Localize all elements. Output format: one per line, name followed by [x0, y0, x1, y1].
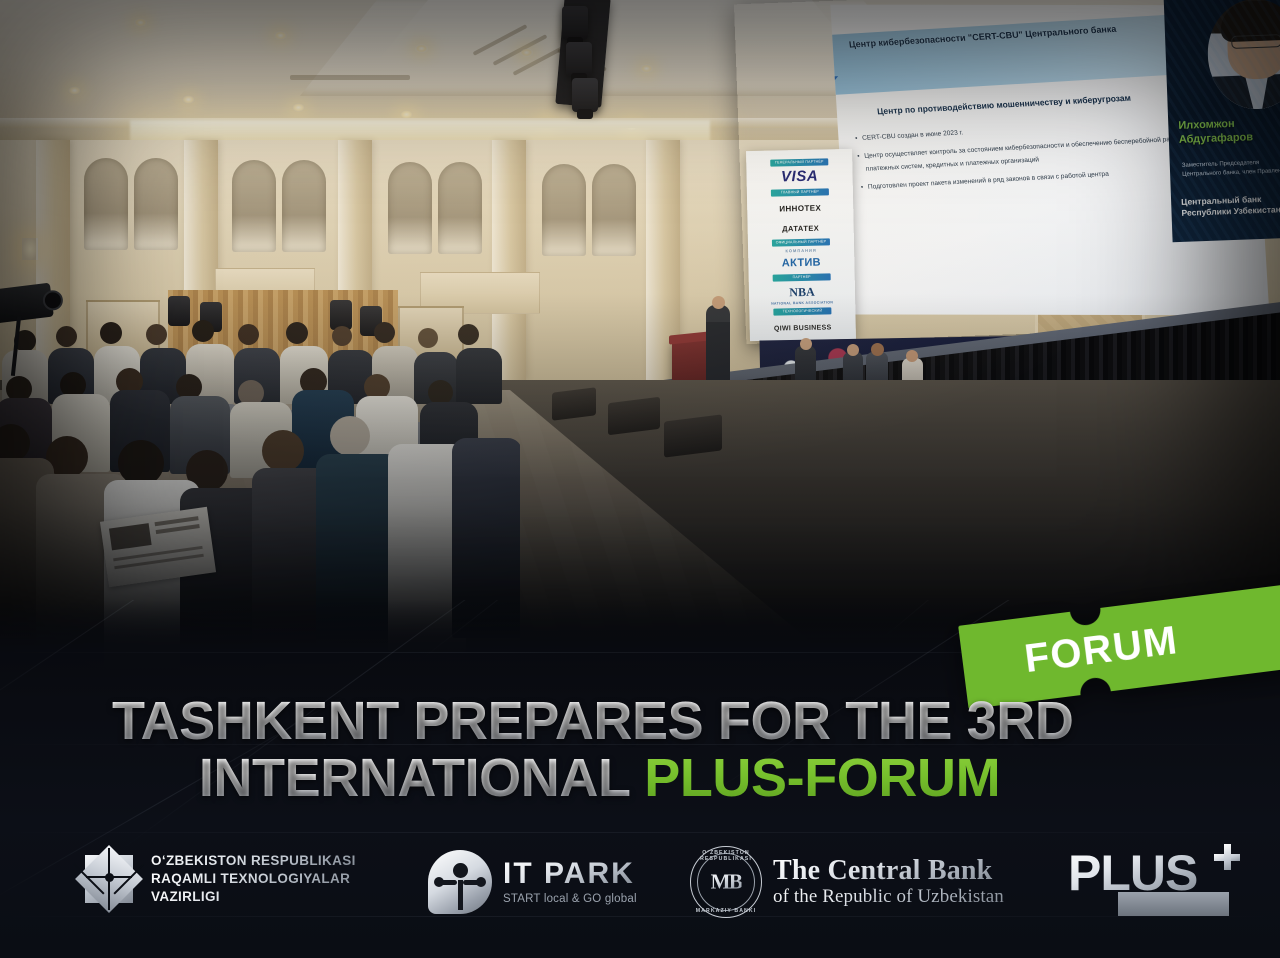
speaker-organization: Центральный банк Республики Узбекистан: [1181, 192, 1280, 218]
wall-arch-window: [134, 158, 178, 250]
sponsor-tier-caption: ОФИЦИАЛЬНЫЙ ПАРТНЁР: [772, 238, 830, 246]
wall-arch-window: [232, 160, 276, 252]
sponsor-logo-aktiv-sub: КОМПАНИЯ: [748, 247, 854, 254]
floor-monitor-speaker: [552, 387, 596, 420]
ceiling-downlight: [292, 103, 305, 112]
floor-monitor-speaker: [664, 414, 722, 457]
plus-sign-icon: [1214, 844, 1240, 870]
sponsor-logo-innotech: ИННОТЕХ: [779, 204, 821, 214]
ceiling-downlight: [134, 18, 147, 27]
audience-head: [146, 324, 167, 345]
headline-line-2-white: INTERNATIONAL: [199, 748, 644, 808]
sponsor-tier-caption: ГЛАВНЫЙ ПАРТНЁР: [771, 188, 829, 196]
speaker-info-panel: Илхомжон Абдугафаров Заместитель Председ…: [1163, 0, 1280, 242]
panelist-head: [800, 338, 812, 350]
logo-ministry-digital-technologies[interactable]: O‘ZBEKISTON RESPUBLIKASI RAQAMLI TEXNOLO…: [78, 846, 356, 912]
central-bank-line-2: of the Republic of Uzbekistan: [773, 886, 1004, 908]
star-cut: [108, 880, 110, 910]
it-park-node-right: [476, 877, 486, 887]
avatar-face: [1226, 16, 1280, 80]
audience-head: [262, 430, 304, 472]
moving-head-light-icon: [562, 6, 588, 40]
audience-head: [286, 322, 308, 344]
ministry-name: O‘ZBEKISTON RESPUBLIKASI RAQAMLI TEXNOLO…: [151, 852, 356, 905]
avatar-suit-left: [1206, 75, 1254, 110]
sponsor-tier: ГЛАВНЫЙ ПАРТНЁР ИННОТЕХ: [747, 188, 854, 217]
ceiling-downlight: [274, 31, 287, 40]
wall-arch-window: [388, 162, 432, 254]
partner-logo-bar: O‘ZBEKISTON RESPUBLIKASI RAQAMLI TEXNOLO…: [0, 832, 1280, 942]
plus-logo-mark: PLUS: [1068, 846, 1243, 920]
video-camera-icon: [0, 283, 54, 324]
audience-head: [332, 326, 352, 346]
avatar-shirt: [1217, 73, 1280, 110]
audience-head: [100, 322, 122, 344]
conference-hall-photo: Центр кибербезопасности "CERT-CBU" Центр…: [0, 0, 1280, 700]
star-center-dot: [105, 873, 114, 882]
logo-it-park[interactable]: IT PARK START local & GO global: [428, 850, 637, 914]
audience-head: [192, 320, 214, 342]
sponsor-logo-nba-sub: NATIONAL BANK ASSOCIATION: [749, 300, 855, 306]
audience-head: [56, 326, 77, 347]
audience-head: [374, 322, 395, 343]
wall-arch-window: [592, 164, 636, 256]
headline-line-1-text: TASHKENT PREPARES FOR THE 3RD: [112, 691, 1073, 751]
sponsor-logo-datatech: ДАТАТЕХ: [782, 224, 819, 234]
ministry-line-1: O‘ZBEKISTON RESPUBLIKASI: [151, 852, 356, 870]
seal-top-text: O‘ZBEKISTON RESPUBLIKASI: [690, 850, 762, 862]
moving-head-light-icon: [572, 78, 598, 112]
plus-underline-bar: [1118, 892, 1229, 916]
it-park-name: IT PARK: [503, 859, 637, 889]
central-bank-seal-icon: O‘ZBEKISTON RESPUBLIKASI MB MARKAZIY BAN…: [690, 846, 762, 918]
sponsor-rollup-banner: ГЕНЕРАЛЬНЫЙ ПАРТНЁР VISA ГЛАВНЫЙ ПАРТНЁР…: [746, 149, 856, 341]
it-park-person-icon: [428, 850, 492, 914]
audience-head: [330, 416, 370, 456]
speaker-avatar: [1206, 0, 1280, 111]
sponsor-logo-aktiv-name: АКТИВ: [782, 257, 821, 270]
sponsor-logo-aktiv: КОМПАНИЯ АКТИВ: [748, 247, 854, 270]
it-park-node-left: [434, 877, 444, 887]
panelist-head: [906, 350, 918, 362]
seal-bottom-text: MARKAZIY BANKI: [690, 908, 762, 914]
sponsor-logo-nba-name: NBA: [789, 285, 815, 300]
wall-sconce: [22, 238, 38, 260]
ceiling-downlight: [68, 86, 81, 95]
it-park-head: [453, 863, 468, 878]
ceiling-downlight: [640, 64, 653, 73]
ceiling-vent: [290, 75, 410, 80]
sponsor-tier: ТЕХНОЛОГИЧЕСКИЙ ПАРТНЁР QIWI BUSINESS: [749, 307, 856, 336]
it-park-tagline: START local & GO global: [503, 893, 637, 905]
sponsor-tier-caption: ГЕНЕРАЛЬНЫЙ ПАРТНЁР: [770, 158, 828, 166]
moving-head-light-icon: [566, 42, 592, 76]
sponsor-tier: ДАТАТЕХ: [747, 217, 853, 237]
sponsor-logo-qiwi: QIWI BUSINESS: [774, 324, 832, 332]
wall-arch-window: [542, 164, 586, 256]
avatar-glasses-icon: [1231, 34, 1280, 49]
ministry-line-3: VAZIRLIGI: [151, 888, 356, 906]
audience-head: [238, 324, 259, 345]
headline-line-2-green: PLUS-FORUM: [644, 748, 1000, 808]
seal-monogram: MB: [711, 870, 742, 895]
logo-plus[interactable]: PLUS: [1068, 846, 1243, 920]
speaker-name: Илхомжон Абдугафаров: [1178, 116, 1280, 148]
avatar-suit-right: [1262, 73, 1280, 109]
speaker-role: Заместитель Председателя Центрального ба…: [1182, 158, 1280, 180]
panelist-head: [871, 343, 884, 356]
central-bank-line-1: The Central Bank: [773, 856, 1004, 886]
sponsor-tier: ОФИЦИАЛЬНЫЙ ПАРТНЁР КОМПАНИЯ АКТИВ: [748, 238, 855, 272]
wall-arch-window: [438, 162, 482, 254]
audience-person: [456, 348, 502, 404]
plus-sign-vertical: [1224, 844, 1231, 870]
sponsor-tier-caption: ПАРТНЁР: [773, 273, 831, 281]
wall-arch-window: [84, 158, 128, 250]
avatar-hair: [1220, 0, 1280, 42]
headline-line-2: INTERNATIONAL PLUS-FORUM: [112, 750, 1087, 807]
central-bank-wordmark: The Central Bank of the Republic of Uzbe…: [773, 856, 1004, 908]
headline-line-1: TASHKENT PREPARES FOR THE 3RD: [112, 693, 1202, 750]
panelist-head: [847, 344, 859, 356]
floor-monitor-speaker: [608, 397, 660, 435]
forum-announcement-banner: Центр кибербезопасности "CERT-CBU" Центр…: [0, 0, 1280, 958]
sponsor-logo-visa: VISA: [781, 168, 818, 186]
audience-head: [418, 328, 438, 348]
sponsor-logo-nba: NBA NATIONAL BANK ASSOCIATION: [749, 285, 855, 306]
sponsor-tier: ГЕНЕРАЛЬНЫЙ ПАРТНЁР VISA: [746, 158, 853, 187]
sponsor-tier-caption: ТЕХНОЛОГИЧЕСКИЙ ПАРТНЁР: [773, 307, 831, 315]
ceiling-downlight: [520, 48, 533, 57]
logo-central-bank[interactable]: O‘ZBEKISTON RESPUBLIKASI MB MARKAZIY BAN…: [690, 846, 1004, 918]
ceiling-downlight: [415, 44, 428, 53]
wall-arch-window: [282, 160, 326, 252]
audience-head: [458, 324, 479, 345]
presenter-at-podium: [706, 305, 730, 383]
ministry-line-2: RAQAMLI TEXNOLOGIYALAR: [151, 870, 356, 888]
it-park-wordmark: IT PARK START local & GO global: [503, 859, 637, 905]
sponsor-tier: ПАРТНЁР NBA NATIONAL BANK ASSOCIATION: [749, 273, 856, 306]
plus-wordmark: PLUS: [1068, 848, 1197, 898]
it-park-body: [458, 880, 463, 910]
ceiling-downlight: [182, 95, 195, 104]
headline: TASHKENT PREPARES FOR THE 3RD INTERNATIO…: [112, 693, 1202, 807]
eight-point-star-icon: [78, 846, 140, 912]
